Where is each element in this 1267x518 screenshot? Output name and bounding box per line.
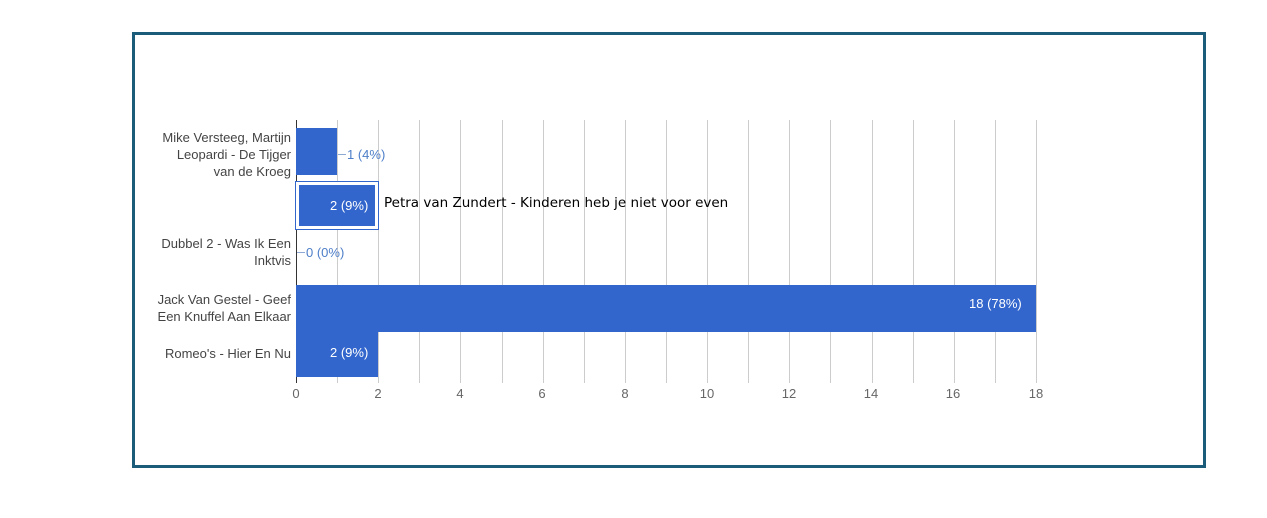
value-label-bar-0: 1 (4%) (347, 148, 385, 161)
value-label-bar-4: 2 (9%) (330, 346, 368, 359)
category-label-line: Jack Van Gestel - Geef (131, 291, 291, 308)
value-label-bar-2: 0 (0%) (306, 246, 344, 259)
gridline (419, 120, 420, 383)
leader-line-bar-0 (338, 154, 346, 155)
category-label-line: van de Kroeg (131, 163, 291, 180)
category-label-line: Romeo's - Hier En Nu (131, 345, 291, 362)
gridline (1036, 120, 1037, 383)
gridline (830, 120, 831, 383)
gridline (666, 120, 667, 383)
gridline (625, 120, 626, 383)
x-tick-18: 18 (1016, 386, 1056, 401)
bar-mike-versteeg[interactable] (296, 128, 337, 175)
category-label-line: Een Knuffel Aan Elkaar (131, 308, 291, 325)
gridline (954, 120, 955, 383)
category-label-line: Inktvis (131, 252, 291, 269)
x-tick-0: 0 (276, 386, 316, 401)
hover-tooltip-label: Petra van Zundert - Kinderen heb je niet… (384, 195, 728, 211)
category-label-line: Leopardi - De Tijger (131, 146, 291, 163)
chart-frame-border (132, 32, 1206, 468)
gridline (460, 120, 461, 383)
value-label-bar-3: 18 (78%) (969, 297, 1022, 310)
gridline (789, 120, 790, 383)
category-label-mike-versteeg: Mike Versteeg, Martijn Leopardi - De Tij… (131, 129, 291, 180)
category-label-line: Dubbel 2 - Was Ik Een (131, 235, 291, 252)
gridline (584, 120, 585, 383)
x-tick-8: 8 (605, 386, 645, 401)
bar-jack-van-gestel[interactable] (296, 285, 1036, 332)
category-label-dubbel-2: Dubbel 2 - Was Ik Een Inktvis (131, 235, 291, 269)
value-label-bar-1: 2 (9%) (330, 199, 368, 212)
gridline (543, 120, 544, 383)
leader-line-bar-2 (297, 252, 305, 253)
x-tick-14: 14 (851, 386, 891, 401)
x-tick-12: 12 (769, 386, 809, 401)
x-tick-10: 10 (687, 386, 727, 401)
x-tick-6: 6 (522, 386, 562, 401)
gridline (748, 120, 749, 383)
x-tick-4: 4 (440, 386, 480, 401)
x-tick-2: 2 (358, 386, 398, 401)
gridline (502, 120, 503, 383)
gridline (872, 120, 873, 383)
chart-canvas: 1 (4%) 2 (9%) 0 (0%) 18 (78%) 2 (9%) Mik… (0, 0, 1267, 518)
category-label-line: Mike Versteeg, Martijn (131, 129, 291, 146)
gridline (995, 120, 996, 383)
gridline (707, 120, 708, 383)
category-label-romeos: Romeo's - Hier En Nu (131, 345, 291, 362)
category-label-jack-van-gestel: Jack Van Gestel - Geef Een Knuffel Aan E… (131, 291, 291, 325)
gridline (913, 120, 914, 383)
x-tick-16: 16 (933, 386, 973, 401)
